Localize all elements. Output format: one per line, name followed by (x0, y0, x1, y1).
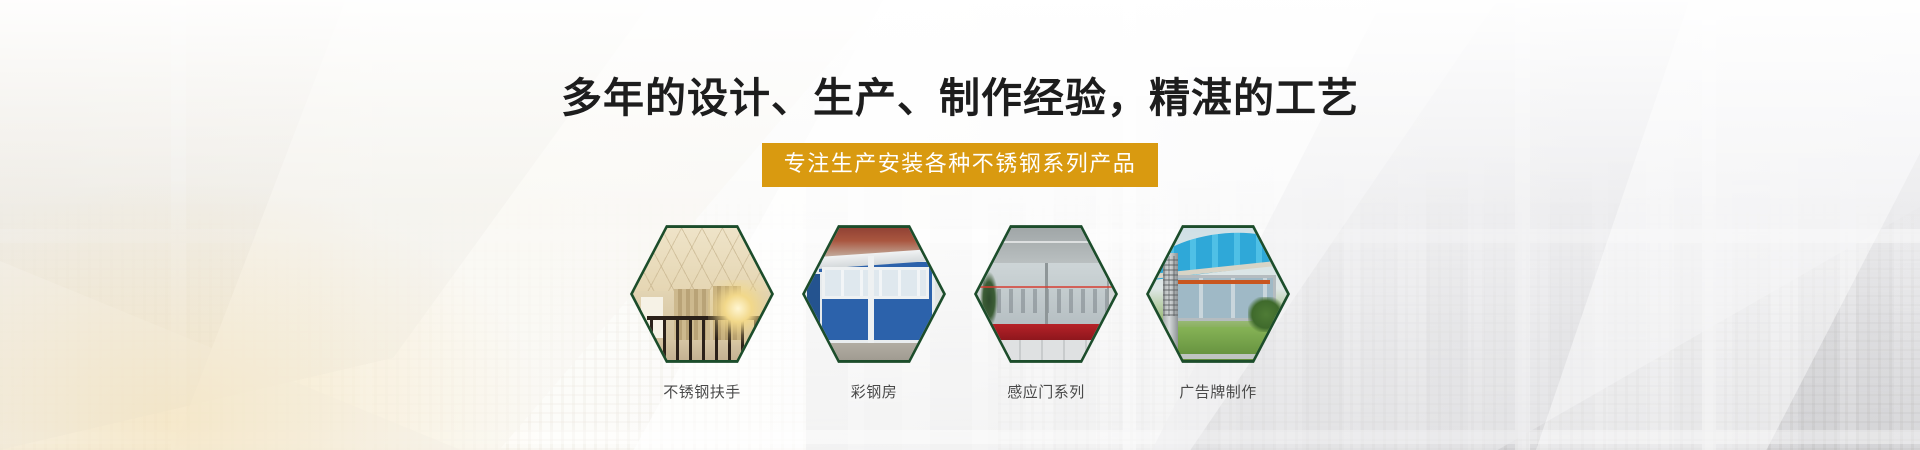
promo-banner: 多年的设计、生产、制作经验，精湛的工艺 专注生产安装各种不锈钢系列产品 (0, 0, 1920, 450)
hexagon-frame (802, 223, 946, 365)
billboard-thumbnail (1149, 226, 1287, 362)
product-hexagon-row: 不锈钢扶手 彩钢房 (628, 223, 1292, 402)
product-item-color-steel-house[interactable]: 彩钢房 (800, 223, 948, 402)
banner-headline: 多年的设计、生产、制作经验，精湛的工艺 (561, 78, 1359, 119)
hexagon-frame (630, 223, 774, 365)
product-label: 感应门系列 (1007, 381, 1085, 402)
banner-content: 多年的设计、生产、制作经验，精湛的工艺 专注生产安装各种不锈钢系列产品 (0, 0, 1920, 450)
product-label: 广告牌制作 (1179, 381, 1257, 402)
stainless-handrail-thumbnail (633, 226, 771, 362)
product-label: 不锈钢扶手 (663, 381, 741, 402)
banner-subtitle-badge: 专注生产安装各种不锈钢系列产品 (762, 143, 1159, 187)
product-item-billboard[interactable]: 广告牌制作 (1144, 223, 1292, 402)
automatic-door-thumbnail (977, 226, 1115, 362)
color-steel-house-thumbnail (805, 226, 943, 362)
product-item-automatic-door[interactable]: 感应门系列 (972, 223, 1120, 402)
hexagon-frame (1146, 223, 1290, 365)
product-item-stainless-handrail[interactable]: 不锈钢扶手 (628, 223, 776, 402)
product-label: 彩钢房 (851, 381, 898, 402)
hexagon-frame (974, 223, 1118, 365)
